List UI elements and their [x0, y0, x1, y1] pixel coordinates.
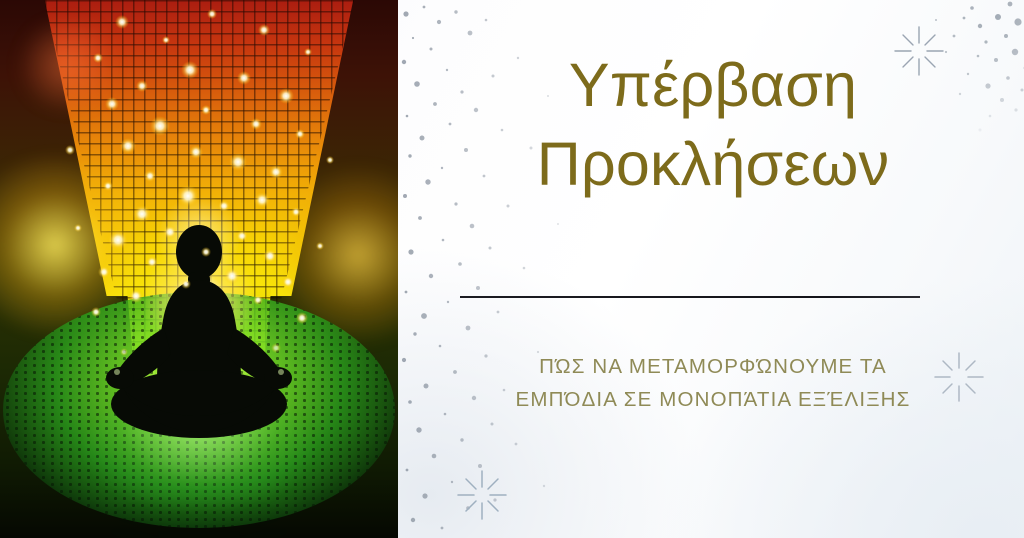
title-slide: Υπέρβαση Προκλήσεων ΠΏΣ ΝΑ ΜΕΤΑΜΟΡΦΏΝΟΥΜ… — [0, 0, 1024, 538]
title-divider — [460, 296, 920, 298]
sparkle-icon — [930, 348, 988, 406]
bokeh-sparkle-particles — [0, 0, 398, 538]
sparkle-icon — [455, 468, 509, 522]
slide-subtitle: ΠΏΣ ΝΑ ΜΕΤΑΜΟΡΦΏΝΟΥΜΕ ΤΑ ΕΜΠΌΔΙΑ ΣΕ ΜΟΝΟ… — [430, 350, 996, 416]
meditation-photo-panel — [0, 0, 398, 538]
sparkle-icon — [893, 25, 945, 77]
